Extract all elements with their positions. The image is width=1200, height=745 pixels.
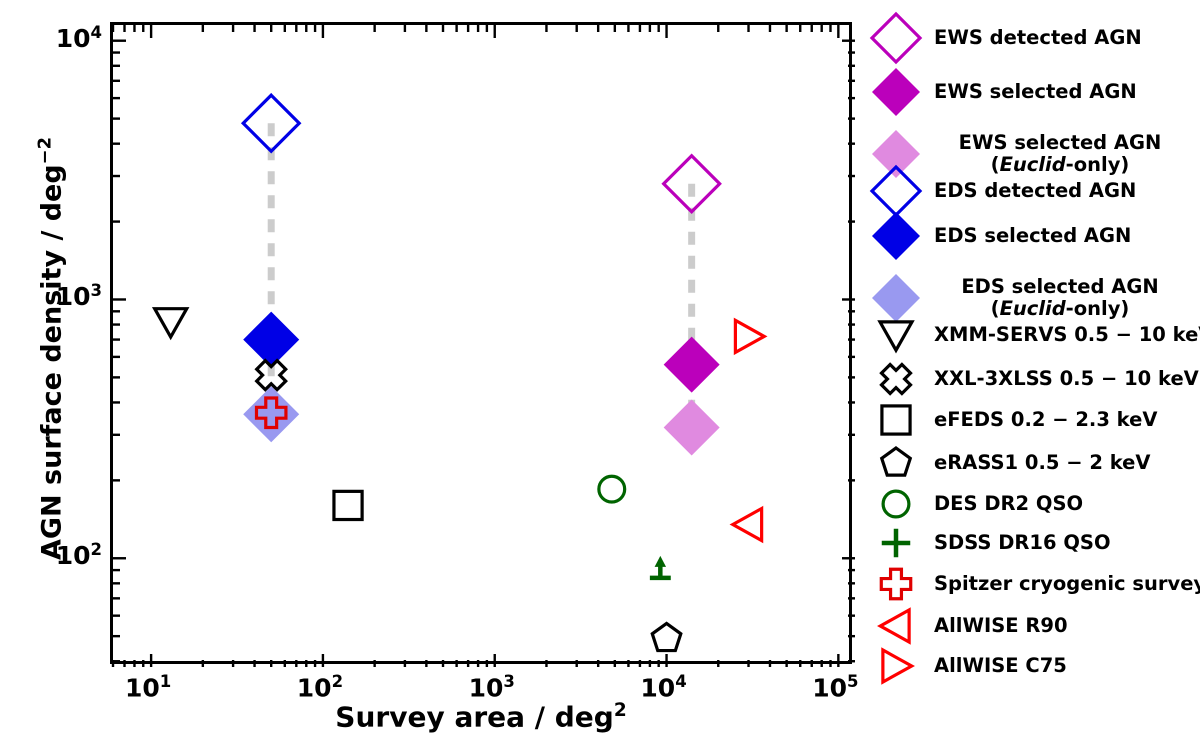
diamond-filled-icon [866, 66, 928, 118]
legend-label: EDS detected AGN [934, 180, 1136, 202]
legend-label: EDS selected AGN(Euclid-only) [934, 276, 1186, 320]
diamond-open-icon [866, 12, 928, 64]
data-point [650, 556, 671, 578]
legend-label: eRASS1 0.5 − 2 keV [934, 452, 1150, 474]
y-axis-title-sup: −2 [35, 137, 56, 164]
legend-label: EWS selected AGN(Euclid-only) [934, 132, 1186, 176]
legend-label: Spitzer cryogenic surveys [934, 573, 1200, 595]
triangle-right-icon [866, 640, 928, 692]
y-axis-title-text: AGN surface density / deg [37, 164, 68, 560]
legend-label: EWS detected AGN [934, 27, 1142, 49]
y-tick-exponent: 2 [91, 540, 102, 559]
y-axis-title: AGN surface density / deg−2 [35, 28, 68, 670]
data-point [155, 309, 187, 337]
legend: EWS detected AGNEWS selected AGNEWS sele… [866, 8, 1200, 688]
legend-label: AllWISE C75 [934, 655, 1067, 677]
x-axis-title-text: Survey area / deg [335, 700, 614, 733]
plot-area [110, 22, 852, 664]
data-point [733, 509, 762, 541]
y-tick-exponent: 3 [91, 281, 102, 300]
legend-label: eFEDS 0.2 − 2.3 keV [934, 409, 1157, 431]
legend-label: XMM-SERVS 0.5 − 10 keV [934, 324, 1200, 346]
legend-label: DES DR2 QSO [934, 493, 1083, 515]
x-tick-label: 101 [125, 672, 171, 702]
data-point [599, 476, 625, 502]
data-point [243, 386, 299, 442]
x-tick-mantissa: 10 [469, 673, 504, 702]
x-tick-label: 104 [640, 672, 686, 702]
legend-label: EWS selected AGN [934, 81, 1137, 103]
y-tick-exponent: 4 [91, 23, 102, 42]
legend-label: AllWISE R90 [934, 615, 1068, 637]
diamond-filled-icon [866, 210, 928, 262]
x-axis-title: Survey area / deg2 [0, 700, 962, 733]
x-tick-mantissa: 10 [640, 673, 675, 702]
data-point [735, 320, 764, 352]
legend-label-line2: (Euclid-only) [991, 153, 1130, 176]
legend-label-line1: EDS selected AGN [961, 275, 1158, 298]
x-tick-exponent: 5 [847, 672, 858, 691]
legend-label-line1: EWS selected AGN [959, 131, 1162, 154]
x-tick-exponent: 2 [332, 672, 343, 691]
data-point [243, 312, 299, 368]
legend-label: XXL-3XLSS 0.5 − 10 keV [934, 368, 1199, 390]
data-point [243, 95, 299, 151]
legend-label: SDSS DR16 QSO [934, 532, 1111, 554]
data-point [664, 400, 720, 456]
data-point [664, 337, 720, 393]
data-point [652, 623, 681, 650]
legend-label: EDS selected AGN [934, 225, 1131, 247]
x-tick-label: 105 [812, 672, 858, 702]
figure-root: 101102103104105104103102 Survey area / d… [0, 0, 1200, 745]
data-markers [113, 25, 849, 661]
x-axis-title-sup: 2 [614, 700, 627, 721]
x-tick-exponent: 4 [675, 672, 686, 691]
x-tick-exponent: 3 [503, 672, 514, 691]
x-tick-mantissa: 10 [812, 673, 847, 702]
x-tick-exponent: 1 [160, 672, 171, 691]
legend-label-line2: (Euclid-only) [991, 297, 1130, 320]
x-tick-label: 102 [297, 672, 343, 702]
x-tick-mantissa: 10 [297, 673, 332, 702]
data-point [334, 491, 362, 519]
x-tick-mantissa: 10 [125, 673, 160, 702]
x-tick-label: 103 [469, 672, 515, 702]
